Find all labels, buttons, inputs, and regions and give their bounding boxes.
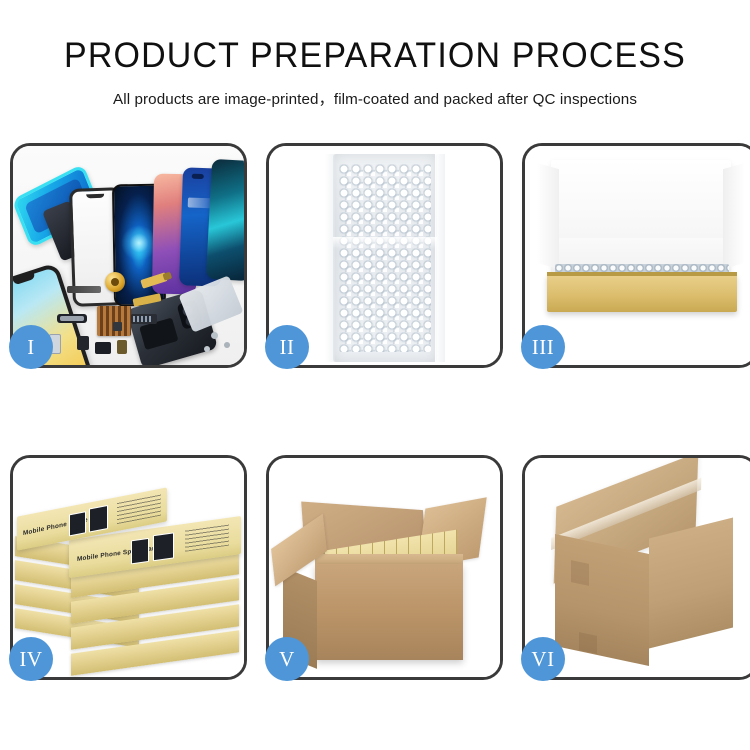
speaker-strip-part — [67, 286, 101, 293]
box-spec-lines-top — [117, 494, 161, 525]
screw-2 — [224, 342, 230, 348]
wrap-edge-left — [325, 154, 335, 362]
screw-1 — [211, 332, 218, 339]
process-step-grid: I II — [10, 143, 740, 680]
step-number-badge-3: III — [521, 325, 565, 369]
small-component-5 — [113, 322, 122, 331]
process-step-5: V — [266, 455, 503, 680]
product-preparation-infographic: PRODUCT PREPARATION PROCESS All products… — [0, 0, 750, 750]
board-connector-part — [131, 314, 157, 324]
process-step-4: Mobile Phone Spare Parts Mobile Phone Sp… — [10, 455, 247, 680]
step-number-badge-6: VI — [521, 637, 565, 681]
process-step-2: II — [266, 143, 503, 368]
small-component-1 — [77, 336, 89, 350]
carton-front-face — [555, 534, 649, 666]
bubble-wrapped-product — [333, 154, 437, 362]
box-spec-lines-front — [185, 524, 229, 552]
step-number-badge-4: IV — [9, 637, 53, 681]
process-step-3: III — [522, 143, 750, 368]
carton-handle-tab-1 — [571, 560, 589, 586]
step-number-badge-2: II — [265, 325, 309, 369]
chip-array-part — [97, 306, 131, 336]
screw-3 — [204, 346, 210, 352]
box-screen-graphic-2 — [153, 532, 174, 561]
box-screen-graphic-1 — [131, 538, 149, 565]
process-step-6: VI — [522, 455, 750, 680]
bubble-sheet — [339, 164, 431, 352]
wrap-edge-right — [435, 154, 445, 362]
connector-strip-part — [57, 314, 87, 323]
carton-right-face — [649, 518, 733, 649]
box-screen-graphic-3 — [69, 511, 86, 536]
step-number-badge-5: V — [265, 637, 309, 681]
page-subtitle: All products are image-printed，film-coat… — [0, 76, 750, 109]
box-stack: Mobile Phone Spare Parts Mobile Phone Sp… — [15, 476, 244, 672]
small-component-2 — [95, 342, 111, 354]
teal-back-phone — [206, 159, 244, 281]
vibration-coil-part — [105, 272, 125, 292]
page-title: PRODUCT PREPARATION PROCESS — [11, 0, 739, 76]
carton-body — [315, 564, 463, 660]
carton-handle-tab-2 — [579, 632, 597, 654]
small-component-3 — [117, 340, 127, 354]
wrap-highlight — [333, 237, 437, 249]
box-screen-graphic-4 — [89, 505, 108, 533]
step-number-badge-1: I — [9, 325, 53, 369]
process-step-1: I — [10, 143, 247, 368]
kraft-inner-box-tray — [547, 274, 737, 312]
header: PRODUCT PREPARATION PROCESS All products… — [0, 0, 750, 109]
